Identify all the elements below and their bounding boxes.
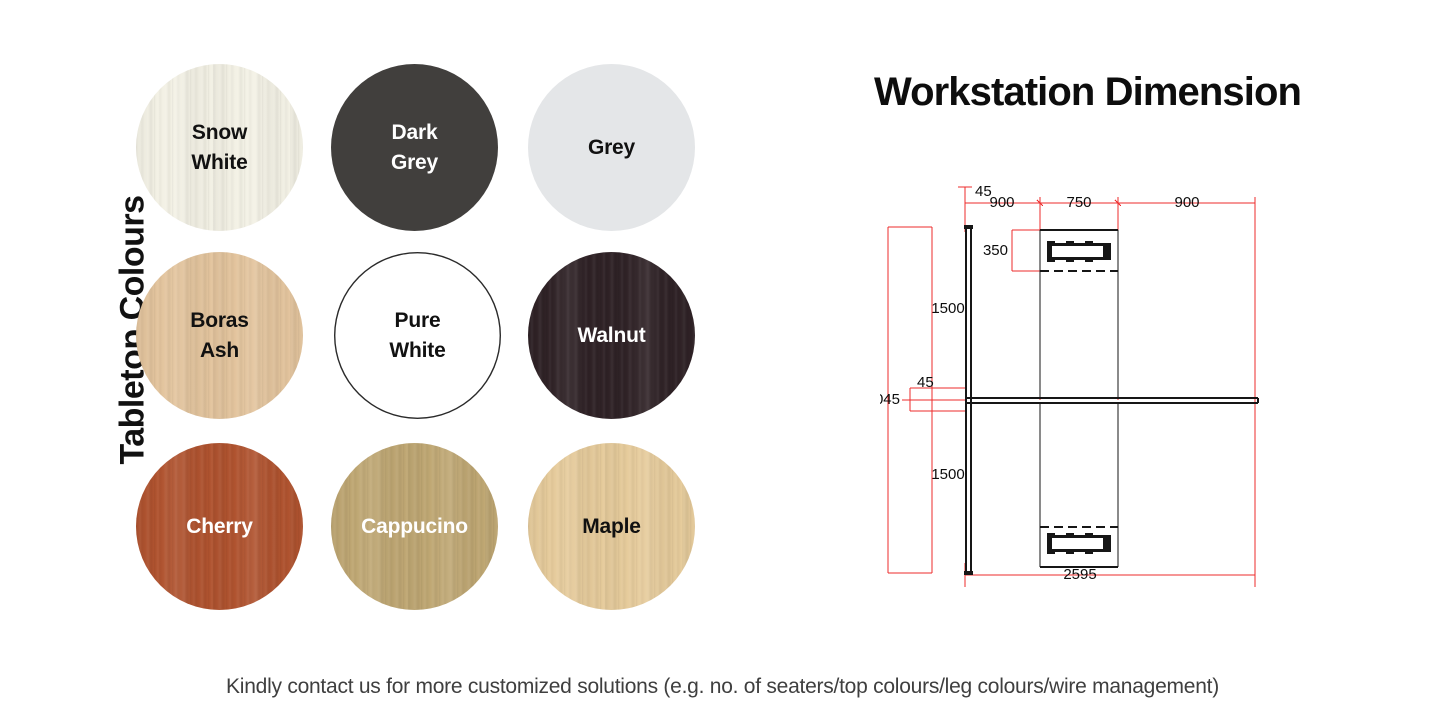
- colour-swatch-cherry[interactable]: Cherry: [136, 443, 303, 610]
- workstation-plan-drawing: 45 900 750 900 350 1500 3045 45 1500 259…: [880, 175, 1280, 600]
- colour-swatch-label: Cherry: [180, 512, 259, 542]
- colour-swatch-walnut[interactable]: Walnut: [528, 252, 695, 419]
- dim-label-left-upper-1500: 1500: [931, 300, 964, 317]
- colour-swatch-dark-grey[interactable]: DarkGrey: [331, 64, 498, 231]
- colour-swatch-pure-white[interactable]: PureWhite: [334, 252, 501, 419]
- lower-wire-management-icon: [1047, 533, 1111, 554]
- dim-label-desk-depth-350: 350: [983, 242, 1008, 259]
- colour-swatch-grid: SnowWhiteDarkGreyGreyBorasAshPureWhiteWa…: [128, 60, 728, 640]
- workstation-dimension-panel: Workstation Dimension: [730, 0, 1445, 660]
- footer-contact-note: Kindly contact us for more customized so…: [0, 675, 1445, 699]
- colour-swatch-label: PureWhite: [383, 306, 451, 366]
- colour-swatch-snow-white[interactable]: SnowWhite: [136, 64, 303, 231]
- dim-label-top-right-900: 900: [1174, 194, 1199, 211]
- colour-swatch-label: SnowWhite: [185, 118, 253, 178]
- colour-swatch-label: Grey: [582, 133, 641, 163]
- colour-swatch-maple[interactable]: Maple: [528, 443, 695, 610]
- dim-label-left-mid-45: 45: [917, 374, 934, 391]
- colour-swatch-grey[interactable]: Grey: [528, 64, 695, 231]
- dim-label-top-left-900: 900: [989, 194, 1014, 211]
- dim-label-left-lower-1500: 1500: [931, 466, 964, 483]
- dim-label-top-mid-750: 750: [1066, 194, 1091, 211]
- colour-swatch-boras-ash[interactable]: BorasAsh: [136, 252, 303, 419]
- furniture-outline-group: [964, 225, 1258, 575]
- workstation-drawing-svg: 45 900 750 900 350 1500 3045 45 1500 259…: [880, 175, 1280, 600]
- colour-swatch-cappucino[interactable]: Cappucino: [331, 443, 498, 610]
- tabletop-colours-panel: Tabletop Colours SnowWhiteDarkGreyGreyBo…: [0, 0, 730, 660]
- colour-swatch-label: Maple: [576, 512, 647, 542]
- colour-swatch-label: Cappucino: [355, 512, 474, 542]
- colour-swatch-label: BorasAsh: [184, 306, 255, 366]
- page-title-workstation-dimension: Workstation Dimension: [730, 70, 1445, 115]
- dim-label-left-overall-3045: 3045: [880, 391, 900, 408]
- dim-label-bottom-overall-2595: 2595: [1063, 566, 1096, 583]
- upper-wire-management-icon: [1047, 241, 1111, 262]
- colour-swatch-label: DarkGrey: [385, 118, 444, 178]
- colour-swatch-label: Walnut: [571, 321, 651, 351]
